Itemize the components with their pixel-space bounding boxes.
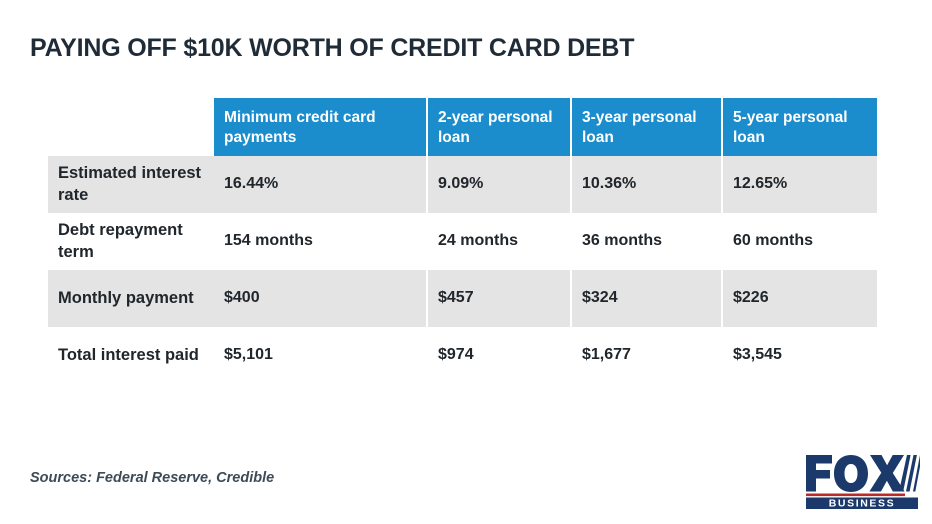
page-title: PAYING OFF $10K WORTH OF CREDIT CARD DEB… xyxy=(30,34,634,63)
table-row: Estimated interest rate 16.44% 9.09% 10.… xyxy=(48,156,877,213)
row-label-text: Estimated interest rate xyxy=(58,163,214,206)
cell-estimated-interest-rate-minimum: 16.44% xyxy=(214,156,428,213)
cell-estimated-interest-rate-5yr: 12.65% xyxy=(723,156,877,213)
cell-monthly-payment-3yr: $324 xyxy=(572,270,723,327)
sources-note: Sources: Federal Reserve, Credible xyxy=(30,470,274,486)
table-row: Total interest paid $5,101 $974 $1,677 $… xyxy=(48,327,877,384)
table-row: Monthly payment $400 $457 $324 $226 xyxy=(48,270,877,327)
row-label-text: Total interest paid xyxy=(58,345,199,366)
column-header-5-year-personal-loan: 5-year personal loan xyxy=(723,98,877,156)
fox-business-logo: BUSINESS xyxy=(804,452,920,510)
cell-estimated-interest-rate-3yr: 10.36% xyxy=(572,156,723,213)
cell-monthly-payment-5yr: $226 xyxy=(723,270,877,327)
cell-debt-repayment-term-2yr: 24 months xyxy=(428,213,572,270)
row-label-text: Monthly payment xyxy=(58,288,194,309)
svg-text:BUSINESS: BUSINESS xyxy=(829,497,895,509)
row-label-monthly-payment: Monthly payment xyxy=(48,270,214,327)
row-label-text: Debt repayment term xyxy=(58,220,214,263)
infographic-canvas: PAYING OFF $10K WORTH OF CREDIT CARD DEB… xyxy=(0,0,932,524)
cell-total-interest-paid-minimum: $5,101 xyxy=(214,327,428,384)
cell-debt-repayment-term-minimum: 154 months xyxy=(214,213,428,270)
cell-monthly-payment-minimum: $400 xyxy=(214,270,428,327)
cell-debt-repayment-term-5yr: 60 months xyxy=(723,213,877,270)
table-row: Debt repayment term 154 months 24 months… xyxy=(48,213,877,270)
comparison-table: Minimum credit card payments 2-year pers… xyxy=(48,98,877,384)
cell-total-interest-paid-5yr: $3,545 xyxy=(723,327,877,384)
header-label-spacer xyxy=(48,98,214,156)
column-header-3-year-personal-loan: 3-year personal loan xyxy=(572,98,723,156)
cell-total-interest-paid-3yr: $1,677 xyxy=(572,327,723,384)
row-label-estimated-interest-rate: Estimated interest rate xyxy=(48,156,214,213)
row-label-debt-repayment-term: Debt repayment term xyxy=(48,213,214,270)
column-header-2-year-personal-loan: 2-year personal loan xyxy=(428,98,572,156)
cell-estimated-interest-rate-2yr: 9.09% xyxy=(428,156,572,213)
column-header-minimum-credit-card-payments: Minimum credit card payments xyxy=(214,98,428,156)
table-header-row: Minimum credit card payments 2-year pers… xyxy=(48,98,877,156)
row-label-total-interest-paid: Total interest paid xyxy=(48,327,214,384)
cell-total-interest-paid-2yr: $974 xyxy=(428,327,572,384)
cell-monthly-payment-2yr: $457 xyxy=(428,270,572,327)
cell-debt-repayment-term-3yr: 36 months xyxy=(572,213,723,270)
